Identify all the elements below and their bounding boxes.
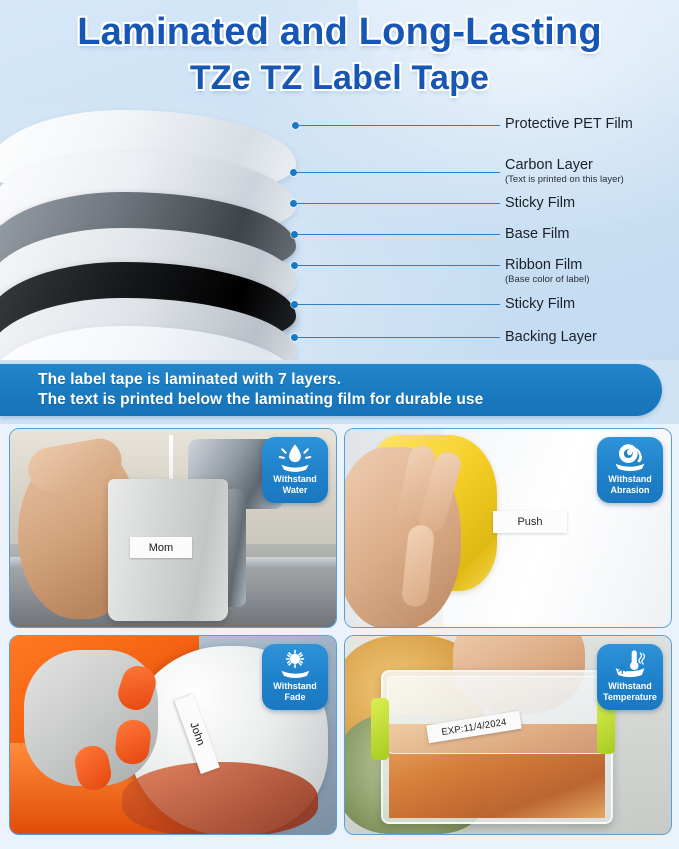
title-line-2: TZe TZ Label Tape [0, 56, 679, 100]
badge-fade-text: Withstand Fade [273, 681, 316, 702]
layer-label-6: Sticky Film [505, 296, 575, 313]
leader-line-5 [296, 265, 500, 266]
photo-grid: Mom Withstand Water [0, 424, 679, 849]
layer-label-5: Ribbon Film (Base color of label) [505, 257, 589, 286]
tape-label-mom: Mom [130, 537, 192, 558]
badge-withstand-fade: Withstand Fade [262, 644, 328, 710]
badge-abrasion-text: Withstand Abrasion [608, 474, 651, 495]
layer-label-1: Protective PET Film [505, 116, 633, 133]
leader-line-7 [296, 337, 500, 338]
sun-icon [278, 649, 312, 679]
leader-line-1 [297, 125, 500, 126]
food-container [381, 670, 613, 824]
thermometer-snowflake-icon [613, 649, 647, 679]
tape-roll-icon [613, 442, 647, 472]
layer-label-4: Base Film [505, 226, 569, 243]
layer-label-2: Carbon Layer (Text is printed on this la… [505, 157, 624, 186]
laminate-banner: The label tape is laminated with 7 layer… [0, 364, 662, 416]
leader-line-3 [295, 203, 500, 204]
badge-withstand-water: Withstand Water [262, 437, 328, 503]
photo-card-fade: John Withstand Fade [9, 635, 337, 835]
banner-line-1: The label tape is laminated with 7 layer… [38, 371, 341, 389]
tape-label-text: Mom [149, 542, 173, 554]
badge-water-text: Withstand Water [273, 474, 316, 495]
grey-mug: Mom [108, 479, 228, 621]
badge-withstand-temperature: Withstand Temperature [597, 644, 663, 710]
container-clip-left [371, 698, 389, 760]
layer-label-3: Sticky Film [505, 195, 575, 212]
leader-line-4 [296, 234, 500, 235]
photo-card-water: Mom Withstand Water [9, 428, 337, 628]
helmet-visor [122, 762, 318, 834]
tape-label-text: John [187, 721, 206, 748]
banner-line-2: The text is printed below the laminating… [38, 391, 483, 409]
photo-card-abrasion: Push Withstand Abrasion [344, 428, 672, 628]
leader-line-2 [295, 172, 500, 173]
tape-label-push: Push [493, 511, 567, 533]
page-title: Laminated and Long-Lasting TZe TZ Label … [0, 8, 679, 100]
layer-label-7: Backing Layer [505, 329, 597, 346]
leader-line-6 [296, 304, 500, 305]
title-line-1: Laminated and Long-Lasting [0, 8, 679, 56]
photo-card-temperature: EXP:11/4/2024 Withstand Temperature [344, 635, 672, 835]
layer-labels: Protective PET Film Carbon Layer (Text i… [505, 110, 679, 360]
infographic-page: Laminated and Long-Lasting TZe TZ Label … [0, 0, 679, 849]
badge-withstand-abrasion: Withstand Abrasion [597, 437, 663, 503]
tape-label-text: Push [517, 516, 542, 528]
badge-temperature-text: Withstand Temperature [603, 681, 657, 702]
water-drop-icon [278, 442, 312, 472]
